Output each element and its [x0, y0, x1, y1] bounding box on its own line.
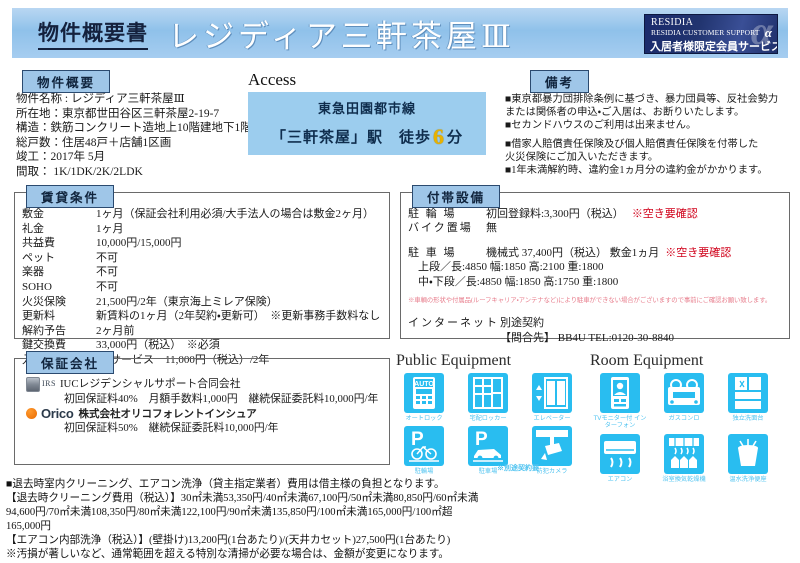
property-summary-page: 物件概要書 レジディア三軒茶屋Ⅲ α RESIDIA RESIDIA CUSTO…	[0, 0, 800, 554]
car-parking-icon: P	[468, 426, 508, 466]
row-note: ※空き要確認	[665, 246, 731, 260]
elevator-icon	[532, 373, 572, 413]
overview-row: 所在地：東京都世田谷区三軒茶屋2-19-7	[16, 107, 256, 122]
orico-logo-icon	[26, 408, 37, 419]
access-box: 東急田園都市線 「三軒茶屋」駅 徒歩6分	[248, 92, 486, 155]
row-value: 1ヶ月	[96, 222, 388, 237]
washbasin-icon	[728, 373, 768, 413]
equipment-item: ガスコンロ	[658, 373, 710, 430]
header-subtitle: 物件概要書	[38, 17, 148, 50]
facilities-table: 駐 輪 場 初回登録料:3,300円（税込） ※空き要確認 バイク置場 無 駐 …	[408, 207, 786, 345]
page-title: レジディア三軒茶屋Ⅲ	[168, 11, 515, 56]
row-value: 無	[486, 221, 497, 235]
table-row: 駐 輪 場 初回登録料:3,300円（税込） ※空き要確認	[408, 207, 786, 221]
remarks-item: または関係者の申込・ご入居は、お断りいたします。	[505, 106, 795, 119]
company-name: Orico	[41, 407, 73, 422]
internet-contact: 【問合先】 BB4U TEL:0120-30-8840	[408, 331, 786, 345]
row-value: 1ヶ月（保証会社利用必須/大手法人の場合は敷金2ヶ月）	[96, 207, 388, 222]
table-row: インターネット 別途契約	[408, 316, 786, 330]
equipment-label: ガスコンロ	[669, 415, 700, 422]
logo-line-3: 入居者様限定会員サービス	[650, 38, 778, 54]
note-line: 【退去時クリーニング費用（税込）】30㎡未満53,350円/40㎡未満67,10…	[6, 492, 796, 506]
table-row: 礼金 1ヶ月	[22, 222, 388, 237]
row-value: 33,000円（税込） ※必須	[96, 338, 388, 353]
access-station-label: 「三軒茶屋」駅 徒歩	[271, 130, 431, 146]
iuc-logo-text: IRS	[42, 377, 56, 392]
public-equipment-note: ※別途契約要	[497, 463, 539, 473]
row-key: 火災保険	[22, 295, 96, 310]
svg-text:AUTO: AUTO	[414, 381, 434, 388]
equipment-label: 独立洗面台	[733, 415, 764, 422]
access-station: 「三軒茶屋」駅 徒歩6分	[271, 124, 463, 150]
equipment-label: 宅配ロッカー	[469, 415, 506, 422]
room-equipment-grid: TVモニター付 インターフォン ガスコンロ	[594, 373, 774, 483]
company-name: IUCレジデンシャルサポート合同会社	[60, 377, 241, 392]
row-key: 礼金	[22, 222, 96, 237]
row-key: 駐 輪 場	[408, 207, 486, 221]
guarantee-tag: 保証会社	[26, 351, 114, 374]
table-row: ペット 不可	[22, 251, 388, 266]
row-key: ペット	[22, 251, 96, 266]
table-row: 解約予告 2ヶ月前	[22, 324, 388, 339]
equipment-label: 駐輪場	[415, 468, 434, 475]
row-key: 駐 車 場	[408, 246, 486, 260]
note-line: 165,000円	[6, 520, 796, 534]
equipment-item: エレベーター	[526, 373, 578, 422]
company-detail: 初回保証料40% 月額手数料1,000円 継続保証委託料10,000円/年	[26, 392, 386, 407]
row-value: 不可	[96, 265, 388, 280]
auto-lock-icon: AUTO	[404, 373, 444, 413]
row-value: 2ヶ月前	[96, 324, 388, 339]
remarks-item: 火災保険にご加入いただきます。	[505, 151, 795, 164]
tv-intercom-icon	[600, 373, 640, 413]
table-row: バイク置場 無	[408, 221, 786, 235]
spacer	[408, 236, 786, 246]
table-row: SOHO 不可	[22, 280, 388, 295]
remarks-item: ■1年未満解約時、違約金1ヵ月分の違約金がかかります。	[505, 164, 795, 177]
page-header: 物件概要書 レジディア三軒茶屋Ⅲ α RESIDIA RESIDIA CUSTO…	[12, 8, 788, 58]
public-equipment-grid: AUTO オートロック	[398, 373, 578, 476]
overview-row: 竣工：2017年 5月	[16, 150, 256, 165]
equipment-item: TVモニター付 インターフォン	[594, 373, 646, 430]
room-equipment-title: Room Equipment	[590, 352, 703, 370]
access-unit: 分	[447, 130, 463, 146]
row-value: 新賃料の1ヶ月（2年契約・更新可） ※更新事務手数料なし	[96, 309, 388, 324]
row-key: 更新料	[22, 309, 96, 324]
equipment-label: TVモニター付 インターフォン	[592, 415, 648, 430]
equipment-label: オートロック	[405, 415, 442, 422]
overview-row: 間取： 1K/1DK/2K/2LDK	[16, 165, 256, 180]
access-title: Access	[248, 70, 296, 90]
row-value: 初回登録料:3,300円（税込）	[486, 207, 624, 221]
equipment-item: 浴室換気乾燥機	[658, 434, 710, 483]
note-line: 【エアコン内部洗浄（税込）】(壁掛け)13,200円(1台あたり)/(天井カセッ…	[6, 534, 796, 548]
gas-stove-icon	[664, 373, 704, 413]
row-key: バイク置場	[408, 221, 486, 235]
residia-logo: α RESIDIA RESIDIA CUSTOMER SUPPORT 入居者様限…	[644, 14, 778, 54]
row-value: 機械式 37,400円（税込） 敷金1ヵ月	[486, 246, 659, 260]
parking-caution: ※車輌の形状や付属品(ルーフキャリア・アンテナなど)により駐車ができない場合がご…	[408, 294, 786, 308]
public-equipment-title: Public Equipment	[396, 352, 511, 370]
warm-water-toilet-icon	[728, 434, 768, 474]
overview-list: 物件名称 : レジディア三軒茶屋Ⅲ 所在地：東京都世田谷区三軒茶屋2-19-7 …	[16, 92, 256, 180]
guarantee-company: IRS IUCレジデンシャルサポート合同会社	[26, 377, 386, 392]
row-key: SOHO	[22, 280, 96, 295]
equipment-item: エアコン	[594, 434, 646, 483]
facilities-tag: 付帯設備	[412, 185, 500, 208]
equipment-item: 宅配ロッカー	[462, 373, 514, 422]
logo-line-2: RESIDIA CUSTOMER SUPPORT	[651, 28, 760, 37]
delivery-locker-icon	[468, 373, 508, 413]
table-row: 共益費 10,000円/15,000円	[22, 236, 388, 251]
access-minutes: 6	[431, 124, 447, 149]
parking-size: 中・下段／長:4850 幅:1850 高:1750 重:1800	[408, 275, 786, 289]
guarantee-list: IRS IUCレジデンシャルサポート合同会社 初回保証料40% 月額手数料1,0…	[26, 377, 386, 436]
bath-dryer-icon	[664, 434, 704, 474]
table-row: 駐 車 場 機械式 37,400円（税込） 敷金1ヵ月 ※空き要確認	[408, 246, 786, 260]
table-row: 楽器 不可	[22, 265, 388, 280]
note-line: ※汚損が著しいなど、通常範囲を超える特別な清掃が必要な場合は、金額が変更になりま…	[6, 548, 796, 562]
remarks-tag: 備考	[530, 70, 589, 93]
company-name-sub: 株式会社オリコフォレントインシュア	[78, 407, 256, 422]
overview-row: 構造：鉄筋コンクリート造地上10階建地下1階	[16, 121, 256, 136]
row-value: 不可	[96, 251, 388, 266]
bicycle-parking-icon: P	[404, 426, 444, 466]
remarks-item: ■セカンドハウスのご利用は出来ません。	[505, 119, 795, 132]
remarks-list: ■東京都暴力団排除条例に基づき、暴力団員等、反社会勢力 または関係者の申込・ご入…	[505, 93, 795, 177]
table-row: 更新料 新賃料の1ヶ月（2年契約・更新可） ※更新事務手数料なし	[22, 309, 388, 324]
equipment-label: 駐車場	[479, 468, 498, 475]
equipment-label: 防犯カメラ	[537, 468, 568, 475]
security-camera-icon	[532, 426, 572, 466]
row-value: 10,000円/15,000円	[96, 236, 388, 251]
spacer	[408, 308, 786, 316]
equipment-item: P 駐輪場	[398, 426, 450, 475]
row-key: 解約予告	[22, 324, 96, 339]
row-key: 楽器	[22, 265, 96, 280]
guarantee-company: Orico 株式会社オリコフォレントインシュア	[26, 407, 386, 422]
svg-text:P: P	[475, 429, 488, 450]
overview-row: 物件名称 : レジディア三軒茶屋Ⅲ	[16, 92, 256, 107]
table-row: 火災保険 21,500円/2年（東京海上ミレア保険）	[22, 295, 388, 310]
remarks-item: ■借家人賠償責任保険及び個人賠償責任保険を付帯した	[505, 138, 795, 151]
row-key: 敷金	[22, 207, 96, 222]
equipment-item: AUTO オートロック	[398, 373, 450, 422]
overview-row: 総戸数：住居48戸＋店舗1区画	[16, 136, 256, 151]
svg-text:P: P	[411, 429, 424, 450]
row-value: 不可	[96, 280, 388, 295]
row-key: 共益費	[22, 236, 96, 251]
equipment-label: エレベーター	[533, 415, 570, 422]
row-value: 別途契約	[500, 316, 544, 330]
company-detail: 初回保証料50% 継続保証委託料10,000円/年	[26, 421, 386, 436]
rent-conditions-table: 敷金 1ヶ月（保証会社利用必須/大手法人の場合は敷金2ヶ月） 礼金 1ヶ月 共益…	[22, 207, 388, 368]
access-line: 東急田園都市線	[318, 98, 416, 117]
table-row: 敷金 1ヶ月（保証会社利用必須/大手法人の場合は敷金2ヶ月）	[22, 207, 388, 222]
note-line: 94,600円/70㎡未満108,350円/80㎡未満122,100円/90㎡未…	[6, 506, 796, 520]
air-conditioner-icon	[600, 434, 640, 474]
equipment-item: 独立洗面台	[722, 373, 774, 430]
iuc-logo-icon	[26, 377, 40, 392]
logo-alpha-small: α	[765, 25, 772, 41]
bottom-notes: ■退去時室内クリーニング、エアコン洗浄（貸主指定業者）費用は借主様の負担となりま…	[6, 478, 796, 563]
row-key: インターネット	[408, 316, 500, 330]
remarks-item: ■東京都暴力団排除条例に基づき、暴力団員等、反社会勢力	[505, 93, 795, 106]
logo-line-1: RESIDIA	[651, 17, 693, 28]
row-value: 21,500円/2年（東京海上ミレア保険）	[96, 295, 388, 310]
note-line: ■退去時室内クリーニング、エアコン洗浄（貸主指定業者）費用は借主様の負担となりま…	[6, 478, 796, 492]
parking-size: 上段／長:4850 幅:1850 高:2100 重:1800	[408, 260, 786, 274]
row-note: ※空き要確認	[632, 207, 698, 221]
rent-conditions-tag: 賃貸条件	[26, 185, 114, 208]
overview-tag: 物件概要	[22, 70, 110, 93]
equipment-item: 温水洗浄便座	[722, 434, 774, 483]
